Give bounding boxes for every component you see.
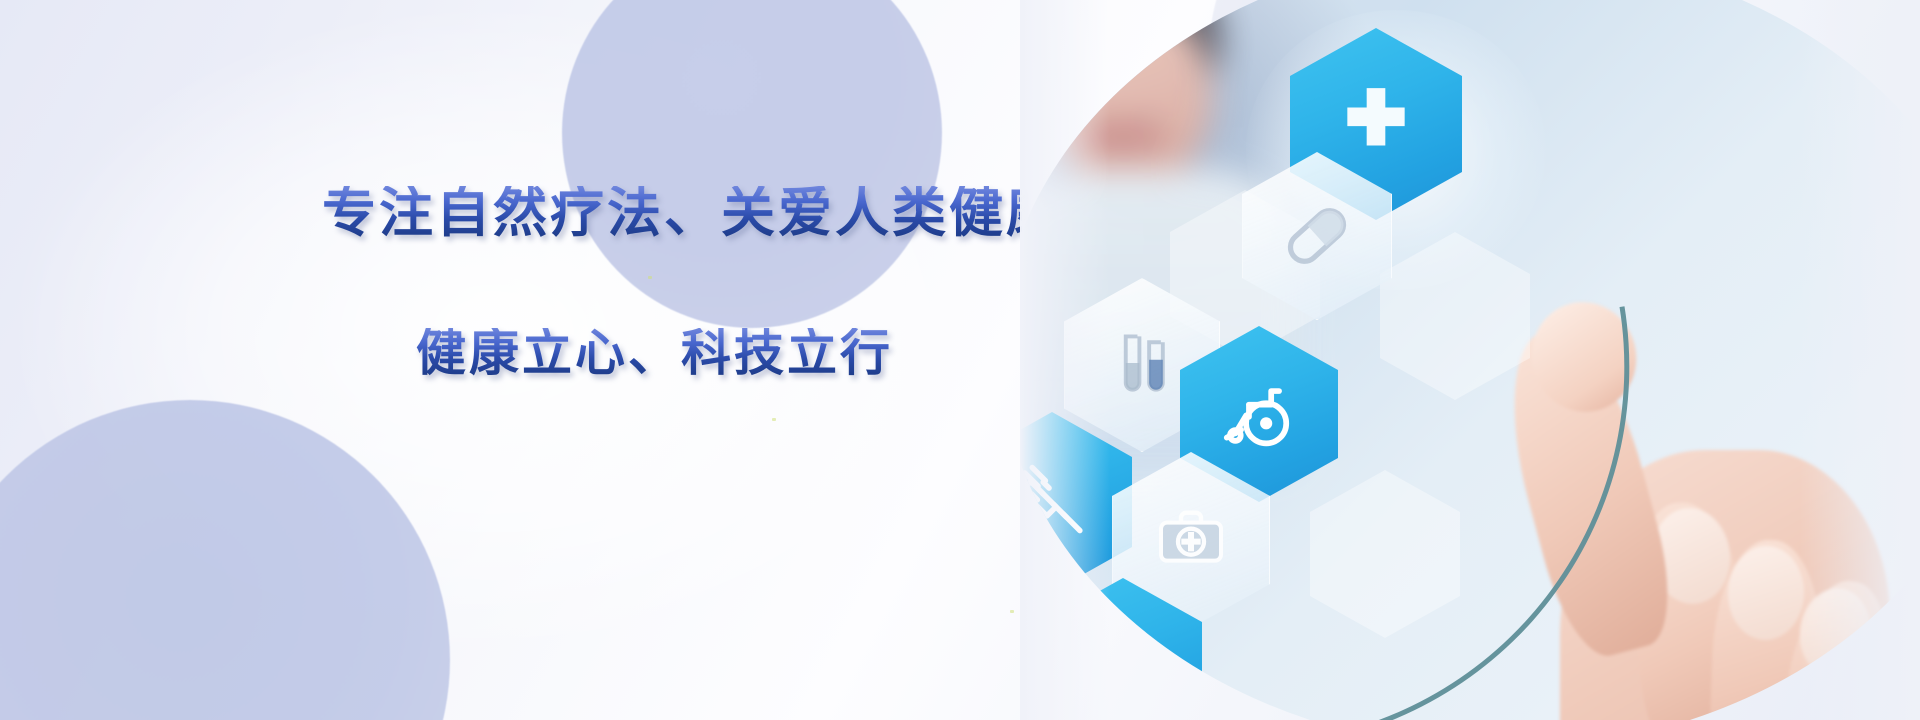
heart-icon (1020, 594, 1031, 672)
sparkle-speck (1010, 610, 1014, 613)
headline-block: 专注自然疗法、关爱人类健康 健康立心、科技立行 (322, 186, 1022, 378)
hexagon-heart[interactable] (1020, 548, 1068, 718)
health-banner: 专注自然疗法、关爱人类健康 健康立心、科技立行 (0, 0, 1920, 720)
photo-clip-mask (1020, 0, 1920, 720)
medical-graphic-panel (1020, 0, 1920, 720)
headline-secondary: 健康立心、科技立行 (416, 328, 1022, 378)
headline-primary: 专注自然疗法、关爱人类健康 (322, 186, 1022, 240)
sparkle-speck (772, 418, 776, 421)
